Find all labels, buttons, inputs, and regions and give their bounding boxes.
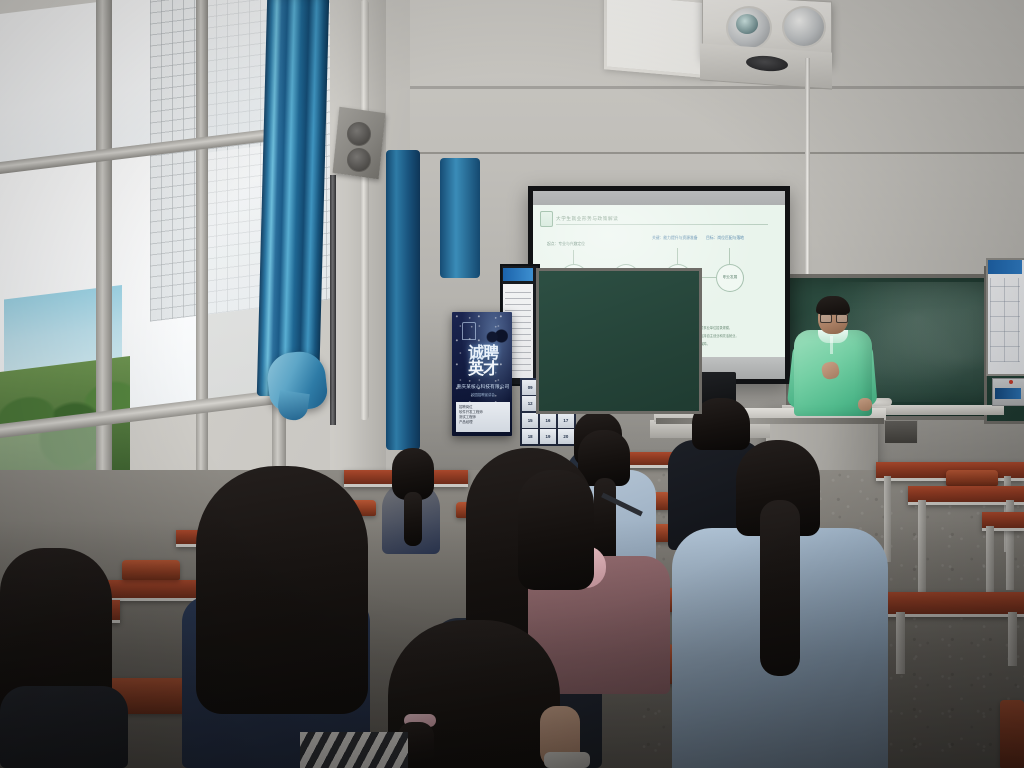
banner-headline-line1: 诚聘: [456, 346, 510, 361]
podium-edge-strip: [656, 418, 884, 424]
power-indicator-icon: [1009, 380, 1013, 384]
speaker-driver-icon: [347, 122, 371, 146]
desk-leg: [896, 612, 905, 674]
grid-cell: 17: [558, 413, 574, 428]
striped-sleeve: [300, 732, 408, 768]
chair: [1000, 700, 1024, 768]
wall-seam-line: [330, 86, 1024, 89]
teacher-shirt-placket: [830, 336, 833, 354]
student-hair: [518, 470, 594, 590]
window-curtain-far[interactable]: [440, 158, 480, 278]
grid-cell: 20: [558, 429, 574, 444]
chair: [946, 470, 998, 486]
window-curtain[interactable]: [257, 0, 329, 396]
banner-subtitle-secondary: 校园招聘宣讲会: [454, 392, 512, 397]
grid-cell: 16: [540, 413, 556, 428]
window-curtain-right[interactable]: [386, 150, 420, 450]
window-pane: [208, 0, 272, 144]
student-hair: [196, 466, 368, 714]
speaker-driver-icon: [347, 148, 371, 172]
poster-header-bar: [988, 260, 1022, 274]
window-pane: [0, 2, 96, 164]
grid-cell: 19: [540, 429, 556, 444]
desk-leg: [918, 500, 926, 596]
podium-vent-panel: [884, 420, 918, 444]
dark-conduit-pipe: [330, 175, 336, 425]
classroom-photo: 大学生就业形势与政策解读 在校学习 实习实践 求职就业 职业发展 起点：专业与兴…: [0, 0, 1024, 768]
blackboard-left: [536, 268, 702, 414]
teacher-hair: [816, 296, 850, 314]
notice-board-header: [503, 268, 533, 281]
banner-emblem-icon: [462, 322, 476, 340]
banner-headline-line2: 英才: [456, 362, 510, 377]
banner-subtitle: 重庆某核心科技有限公司: [454, 384, 512, 390]
desk-leg: [1008, 612, 1017, 666]
vertical-pipe: [360, 0, 369, 420]
student-ponytail: [760, 500, 800, 676]
glasses-bridge-icon: [820, 314, 846, 321]
projector-lens-inner-icon: [736, 14, 758, 34]
ceiling-light-panel: [604, 0, 714, 79]
poster-icon-grid: [990, 278, 1020, 362]
grid-cell: 15: [522, 413, 538, 428]
banner-footer-text: 招聘岗位 软件开发工程师 测试工程师 产品经理: [459, 405, 507, 425]
projector-vent-icon: [782, 6, 826, 48]
desk-leg: [884, 476, 891, 562]
control-panel-screen[interactable]: [995, 388, 1021, 399]
teacher-hand-resting: [858, 398, 872, 411]
wall-conduit-line: [330, 152, 1024, 154]
student-ponytail: [404, 492, 422, 546]
chair: [122, 560, 180, 580]
sleeve-cuff: [544, 752, 590, 768]
student-body: [0, 686, 128, 768]
grid-cell: 18: [522, 429, 538, 444]
